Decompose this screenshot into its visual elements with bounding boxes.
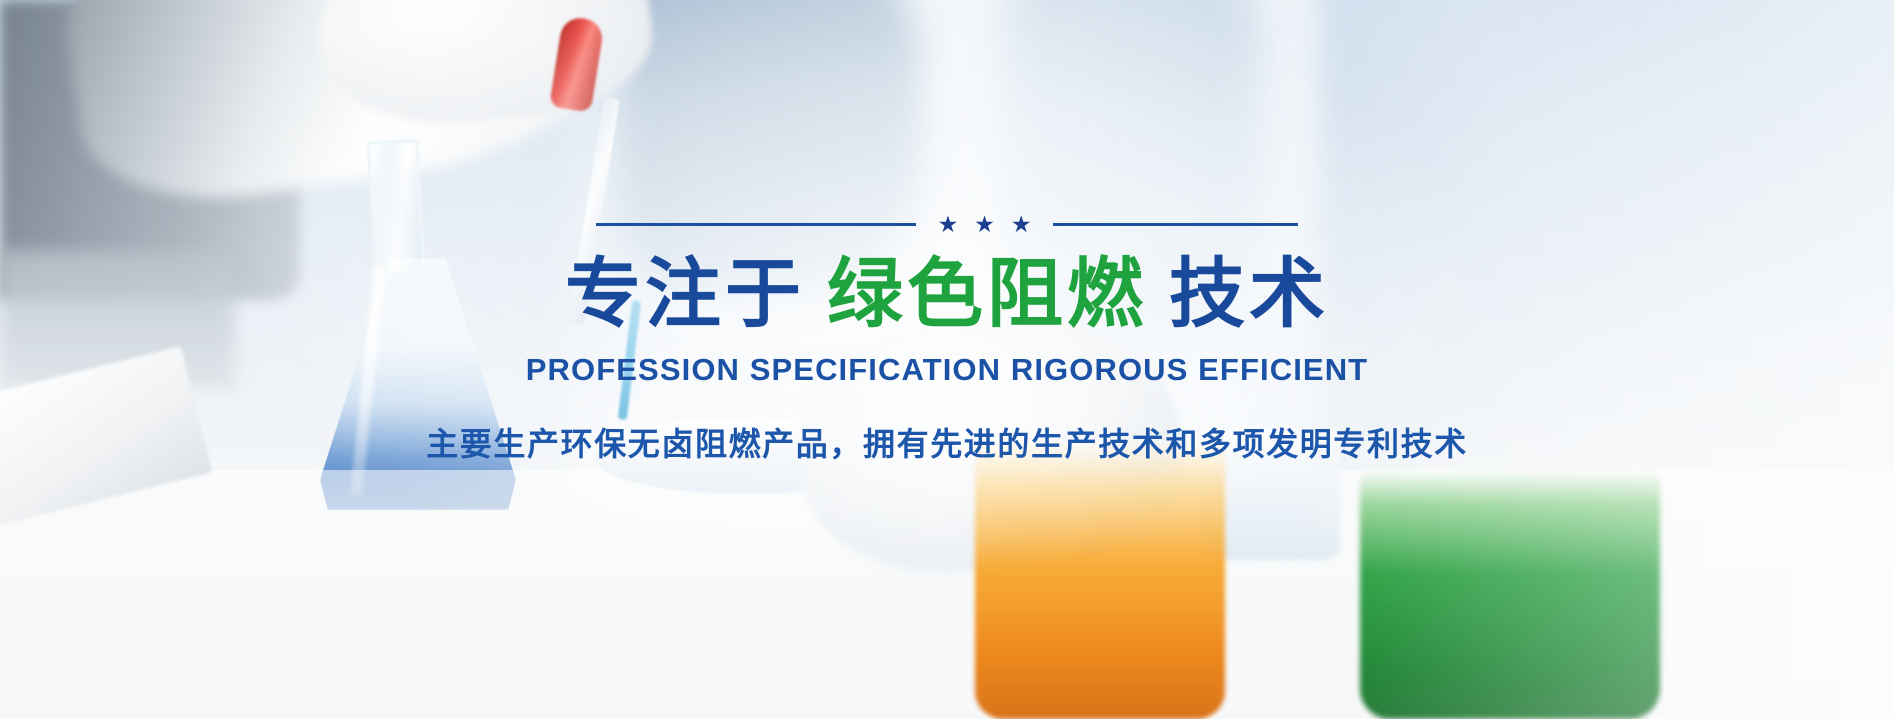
subtitle-english: PROFESSION SPECIFICATION RIGOROUS EFFICI…	[0, 352, 1894, 388]
star-icon: ★	[974, 213, 995, 236]
divider-line-left	[596, 223, 916, 226]
subtitle-chinese: 主要生产环保无卤阻燃产品，拥有先进的生产技术和多项发明专利技术	[0, 419, 1894, 465]
hero-banner: ★ ★ ★ 专注于绿色阻燃技术 PROFESSION SPECIFICATION…	[0, 0, 1894, 719]
decorative-divider: ★ ★ ★	[0, 213, 1894, 236]
star-group: ★ ★ ★	[916, 213, 1054, 236]
title-segment-focus: 专注于	[565, 252, 805, 337]
star-icon: ★	[938, 213, 959, 236]
technician-shirt-shape	[620, 0, 920, 290]
page-title: 专注于绿色阻燃技术	[0, 249, 1894, 342]
divider-line-right	[1053, 223, 1298, 226]
title-segment-technology: 技术	[1169, 252, 1329, 337]
title-segment-green-flame-retardant: 绿色阻燃	[827, 252, 1147, 337]
star-icon: ★	[1011, 213, 1032, 236]
orange-beaker-shape	[975, 440, 1225, 719]
